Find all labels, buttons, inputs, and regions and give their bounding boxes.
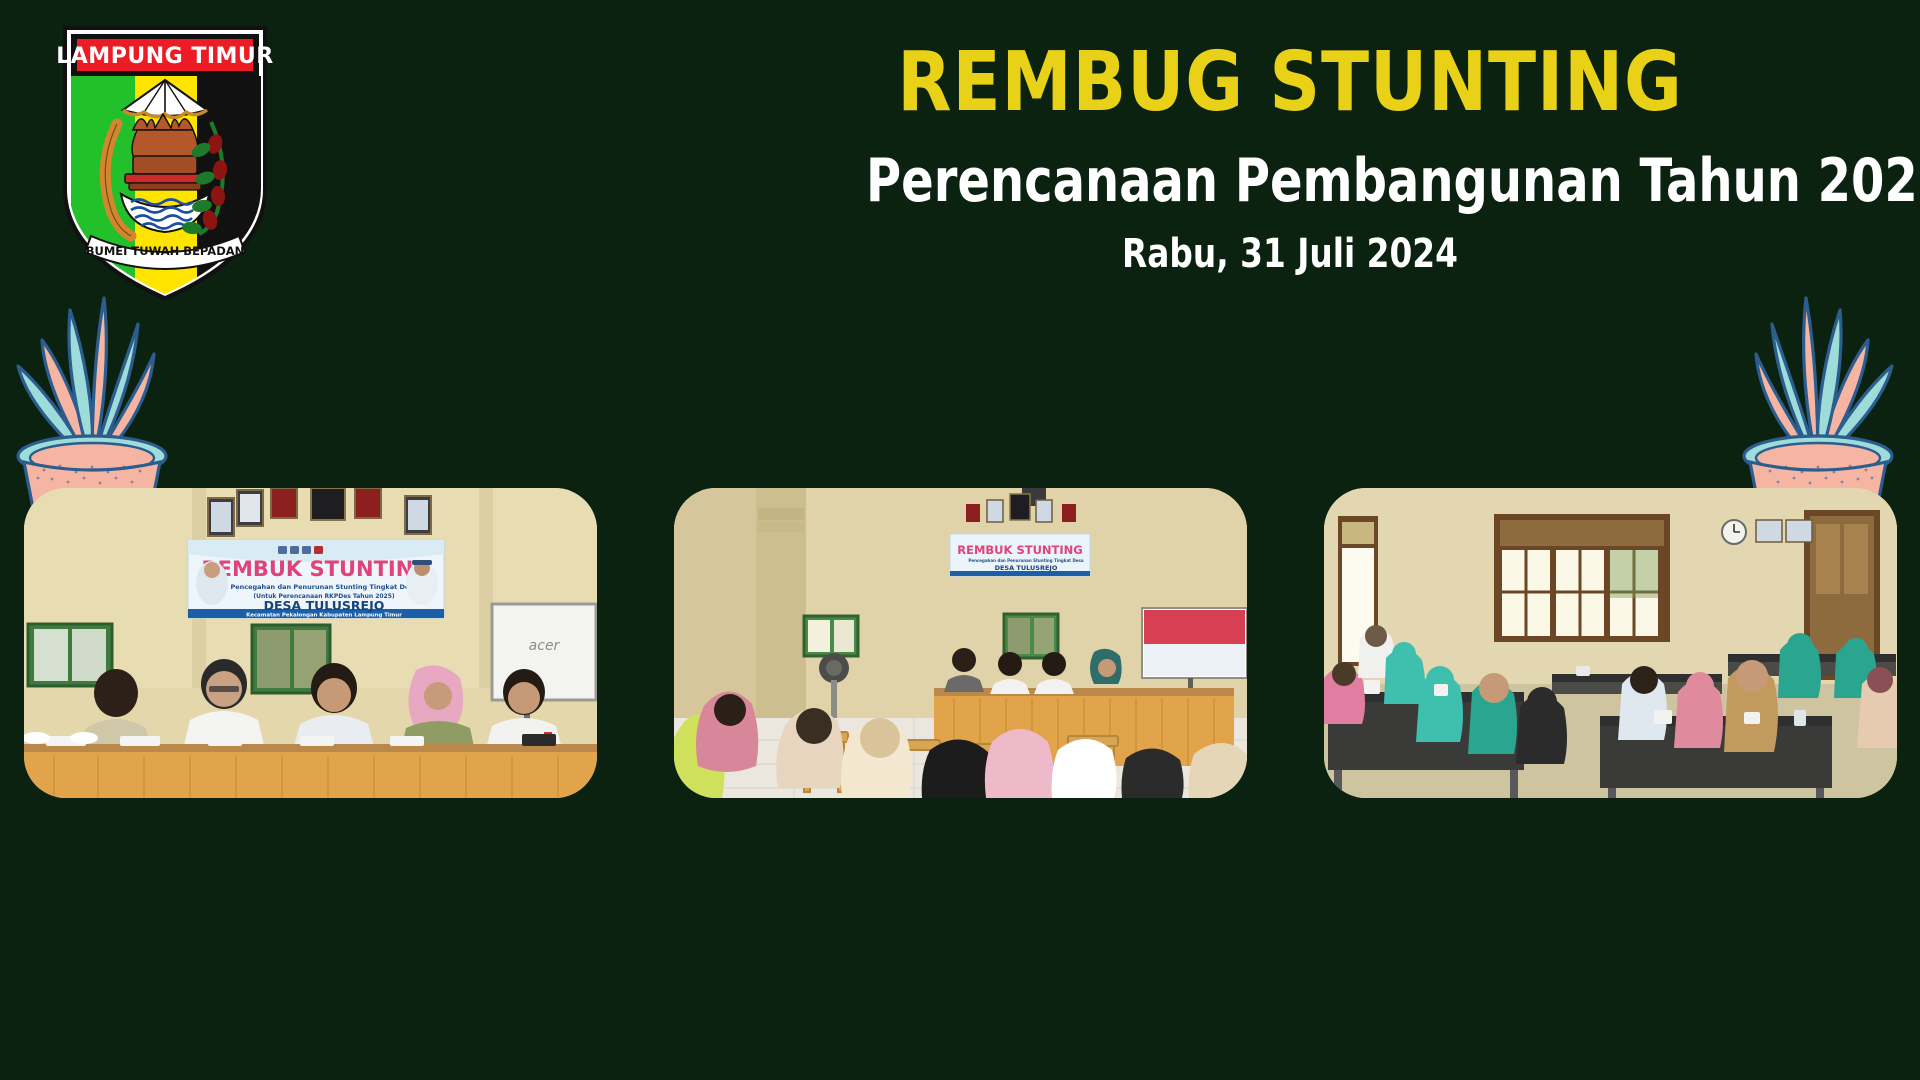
projector-brand-label: acer: [529, 638, 561, 654]
banner-line1: Pencegahan dan Penurunan Stunting Tingka…: [230, 583, 417, 591]
photo-participants-tables: [1324, 488, 1897, 798]
banner-line1-small: Pencegahan dan Penurunan Stunting Tingka…: [968, 558, 1083, 563]
banner-headline-small: REMBUK STUNTING: [957, 543, 1082, 557]
photo-head-table: REMBUK STUNTING Pencegahan dan Penurunan…: [24, 488, 597, 798]
banner-village-small: DESA TULUSREJO: [995, 564, 1058, 572]
potted-plant-left: [0, 248, 192, 498]
banner-village: DESA TULUSREJO: [264, 598, 385, 613]
header-text-block: REMBUG STUNTING Perencanaan Pembangunan …: [760, 40, 1820, 276]
banner-footer: Kecamatan Pekalongan Kabupaten Lampung T…: [246, 613, 402, 619]
banner-headline: REMBUK STUNTING: [201, 557, 430, 581]
rembuk-stunting-banner-small: REMBUK STUNTING Pencegahan dan Penurunan…: [950, 534, 1090, 576]
rembuk-stunting-banner: REMBUK STUNTING Pencegahan dan Penurunan…: [188, 540, 444, 619]
potted-plant-right: [1718, 248, 1918, 498]
photo-strip: REMBUK STUNTING Pencegahan dan Penurunan…: [0, 488, 1920, 808]
page-title: REMBUG STUNTING: [834, 40, 1746, 126]
event-date: Rabu, 31 Juli 2024: [855, 232, 1724, 276]
wall-clock: [1722, 520, 1746, 544]
emblem-banner-text: LAMPUNG TIMUR: [56, 44, 273, 69]
photo-audience-rear: REMBUK STUNTING Pencegahan dan Penurunan…: [674, 488, 1247, 798]
poster-canvas: LAMPUNG TIMUR: [0, 0, 1920, 1080]
window-centre: [1494, 514, 1670, 642]
page-subtitle: Perencanaan Pembangunan Tahun 2025: [866, 148, 1714, 214]
